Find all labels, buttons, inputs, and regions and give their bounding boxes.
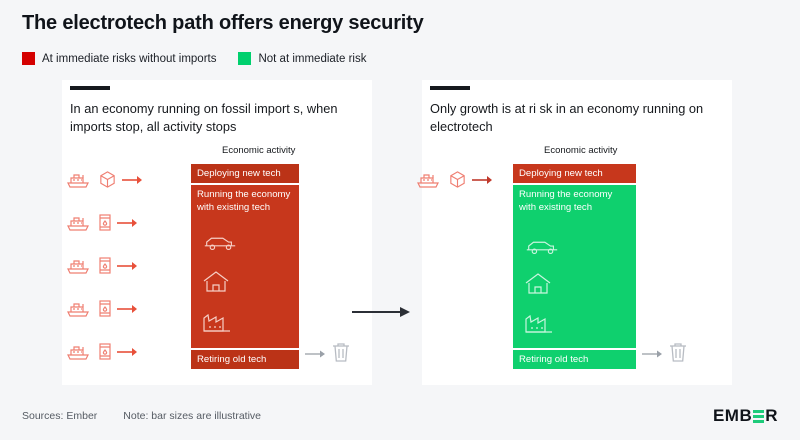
segment-retiring-old-tech: Retiring old tech <box>191 350 299 369</box>
footer: Sources: Ember Note: bar sizes are illus… <box>22 410 287 422</box>
panel-electrotech-diagram: Economic activity <box>422 145 732 370</box>
arrow-right-icon <box>117 261 139 271</box>
legend-item-at-risk: At immediate risks without imports <box>22 52 216 65</box>
legend-label-safe: Not at immediate risk <box>258 53 366 65</box>
panel-fossil-diagram: Economic activity <box>62 145 372 370</box>
arrow-right-icon <box>642 346 664 364</box>
electrotech-retire-flow <box>642 341 688 368</box>
oil-barrel-icon <box>98 299 112 318</box>
center-arrow-icon <box>352 305 412 324</box>
legend: At immediate risks without imports Not a… <box>22 52 388 65</box>
segment-label: Running the economy with existing tech <box>519 189 632 214</box>
house-icon <box>523 272 553 296</box>
segment-label: Deploying new tech <box>197 168 295 180</box>
input-row <box>66 210 186 235</box>
trash-bin-icon <box>668 341 688 368</box>
segment-running-economy: Running the economy with existing tech <box>191 185 299 348</box>
oil-barrel-icon <box>98 213 112 232</box>
arrow-right-icon <box>305 346 327 364</box>
fossil-retire-flow <box>305 341 351 368</box>
panel-fossil: In an economy running on fossil import s… <box>62 80 372 385</box>
factory-icon <box>201 310 235 334</box>
segment-label: Deploying new tech <box>519 168 632 180</box>
logo-green-e-icon <box>753 410 764 423</box>
house-icon <box>201 270 231 294</box>
segment-running-economy: Running the economy with existing tech <box>513 185 636 348</box>
ember-logo: EMB R <box>713 406 778 426</box>
panels-container: In an economy running on fossil import s… <box>0 80 800 385</box>
arrow-right-icon <box>472 175 494 185</box>
column-label-economic-activity: Economic activity <box>222 145 295 156</box>
footer-note: Note: bar sizes are illustrative <box>123 410 261 422</box>
input-row <box>66 296 186 321</box>
cargo-ship-icon <box>66 343 92 361</box>
legend-item-safe: Not at immediate risk <box>238 52 366 65</box>
electrotech-activity-bar: Deploying new tech Running the economy w… <box>512 163 637 370</box>
legend-swatch-green <box>238 52 251 65</box>
package-box-icon <box>448 170 467 189</box>
fossil-activity-bar: Deploying new tech Running the economy w… <box>190 163 300 370</box>
oil-barrel-icon <box>98 256 112 275</box>
legend-label-at-risk: At immediate risks without imports <box>42 53 216 65</box>
package-box-icon <box>98 170 117 189</box>
car-icon <box>523 237 561 257</box>
input-row <box>66 253 186 278</box>
segment-deploying-new-tech: Deploying new tech <box>191 164 299 183</box>
arrow-right-icon <box>117 347 139 357</box>
panel-rule <box>430 86 470 90</box>
segment-label: Retiring old tech <box>519 354 632 366</box>
cargo-ship-icon <box>66 171 92 189</box>
segment-label: Running the economy with existing tech <box>197 189 295 214</box>
segment-label: Retiring old tech <box>197 354 295 366</box>
input-row <box>66 339 186 364</box>
fossil-inputs <box>66 167 186 382</box>
cargo-ship-icon <box>66 214 92 232</box>
arrow-right-icon <box>117 218 139 228</box>
segment-icons <box>523 229 630 342</box>
input-row <box>66 167 186 192</box>
panel-rule <box>70 86 110 90</box>
logo-text-part1: EMB <box>713 406 752 426</box>
trash-bin-icon <box>331 341 351 368</box>
panel-fossil-heading: In an economy running on fossil import s… <box>70 100 360 135</box>
car-icon <box>201 233 239 253</box>
cargo-ship-icon <box>66 300 92 318</box>
panel-electrotech: Only growth is at ri sk in an economy ru… <box>422 80 732 385</box>
footer-sources: Sources: Ember <box>22 410 97 422</box>
logo-text-part2: R <box>765 406 778 426</box>
panel-electrotech-heading: Only growth is at ri sk in an economy ru… <box>430 100 720 135</box>
column-label-economic-activity: Economic activity <box>544 145 617 156</box>
arrow-right-icon <box>122 175 144 185</box>
legend-swatch-red <box>22 52 35 65</box>
cargo-ship-icon <box>416 171 442 189</box>
segment-deploying-new-tech: Deploying new tech <box>513 164 636 183</box>
segment-retiring-old-tech: Retiring old tech <box>513 350 636 369</box>
factory-icon <box>523 311 557 335</box>
oil-barrel-icon <box>98 342 112 361</box>
page-title: The electrotech path offers energy secur… <box>22 12 424 35</box>
segment-icons <box>201 225 293 342</box>
arrow-right-icon <box>117 304 139 314</box>
infographic-root: The electrotech path offers energy secur… <box>0 0 800 440</box>
cargo-ship-icon <box>66 257 92 275</box>
